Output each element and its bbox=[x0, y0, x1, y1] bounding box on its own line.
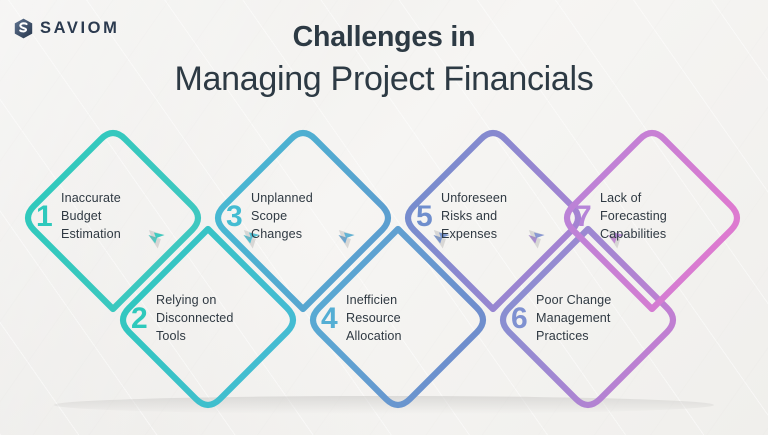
diamond-outline-5 bbox=[408, 133, 578, 309]
diamond-outline-1 bbox=[28, 133, 198, 309]
diamond-chain: 1 Inaccurate Budget Estimation 2 Relying… bbox=[0, 0, 768, 435]
diamond-chain-svg bbox=[0, 0, 768, 435]
diamond-outline-4 bbox=[313, 229, 483, 405]
diamond-outline-2 bbox=[123, 229, 293, 405]
diamond-outline-7 bbox=[567, 133, 737, 309]
diamond-outline-6 bbox=[503, 229, 673, 405]
infographic-canvas: SAVIOM Challenges in Managing Project Fi… bbox=[0, 0, 768, 435]
diamond-outline-3 bbox=[218, 133, 388, 309]
